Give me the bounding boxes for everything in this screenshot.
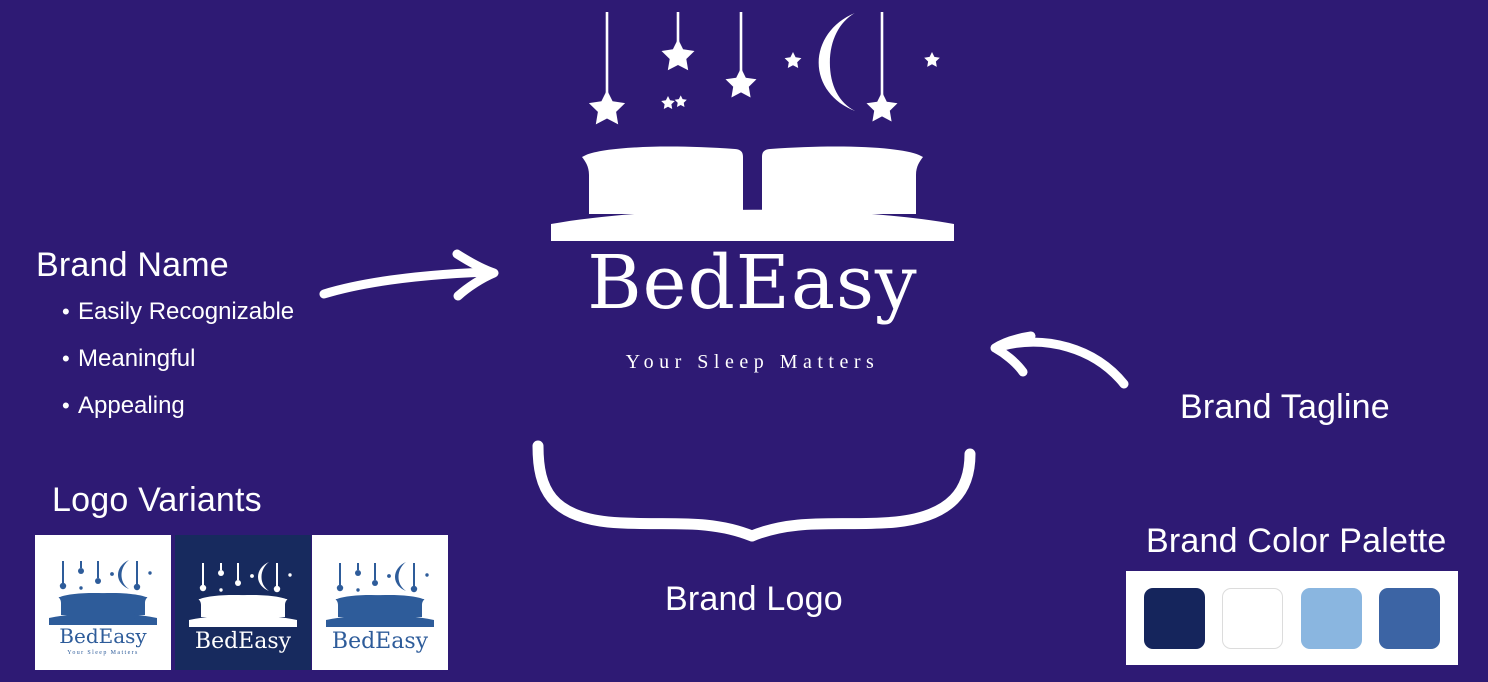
bed-with-pillows-icon [545,136,960,241]
logo-variant-dark-reversed[interactable]: BedEasy [175,535,311,670]
logo-wordmark: BedEasy [545,246,960,320]
brand-name-attribute-list: •Easily Recognizable •Meaningful •Appeal… [62,300,294,441]
logo-tagline: Your Sleep Matters [545,352,960,372]
bullet-glyph: • [62,348,78,370]
brand-color-palette-card [1126,571,1458,665]
hanging-stars-and-moon-decoration [545,8,960,123]
variant-1-artwork: BedEasy Your Sleep Matters [43,547,163,659]
variant-2-wordmark: BedEasy [195,629,292,654]
color-swatch-light-blue[interactable] [1301,588,1362,649]
brand-logo-brace [530,440,990,550]
bullet-glyph: • [62,395,78,417]
brand-name-attribute-0: Easily Recognizable [78,298,294,325]
color-swatch-steel-blue[interactable] [1379,588,1440,649]
color-swatch-white[interactable] [1222,588,1283,649]
list-item: •Meaningful [62,347,294,371]
bullet-glyph: • [62,301,78,323]
brand-name-arrow-icon [318,248,508,318]
brand-name-attribute-1: Meaningful [78,345,195,372]
logo-variant-light-full[interactable]: BedEasy Your Sleep Matters [35,535,171,670]
brand-tagline-arrow-icon [985,322,1145,402]
variant-3-artwork: BedEasy [320,549,440,657]
brand-identity-board: BedEasy Your Sleep Matters Brand Name •E… [0,0,1488,682]
list-item: •Appealing [62,394,294,418]
logo-variants-heading: Logo Variants [52,481,262,520]
brand-tagline-label: Brand Tagline [1180,388,1390,427]
color-swatch-deep-navy[interactable] [1144,588,1205,649]
variant-2-artwork: BedEasy [183,549,303,657]
brand-name-heading: Brand Name [36,246,229,285]
variant-1-wordmark: BedEasy [59,624,147,648]
main-brand-logo: BedEasy Your Sleep Matters [545,8,960,383]
logo-variant-light-no-tagline[interactable]: BedEasy [312,535,448,670]
brand-color-palette-heading: Brand Color Palette [1146,522,1447,561]
brand-name-attribute-2: Appealing [78,392,185,419]
list-item: •Easily Recognizable [62,300,294,324]
variant-1-tagline: Your Sleep Matters [67,650,139,656]
variant-3-wordmark: BedEasy [332,629,429,654]
brand-logo-label: Brand Logo [665,580,843,619]
